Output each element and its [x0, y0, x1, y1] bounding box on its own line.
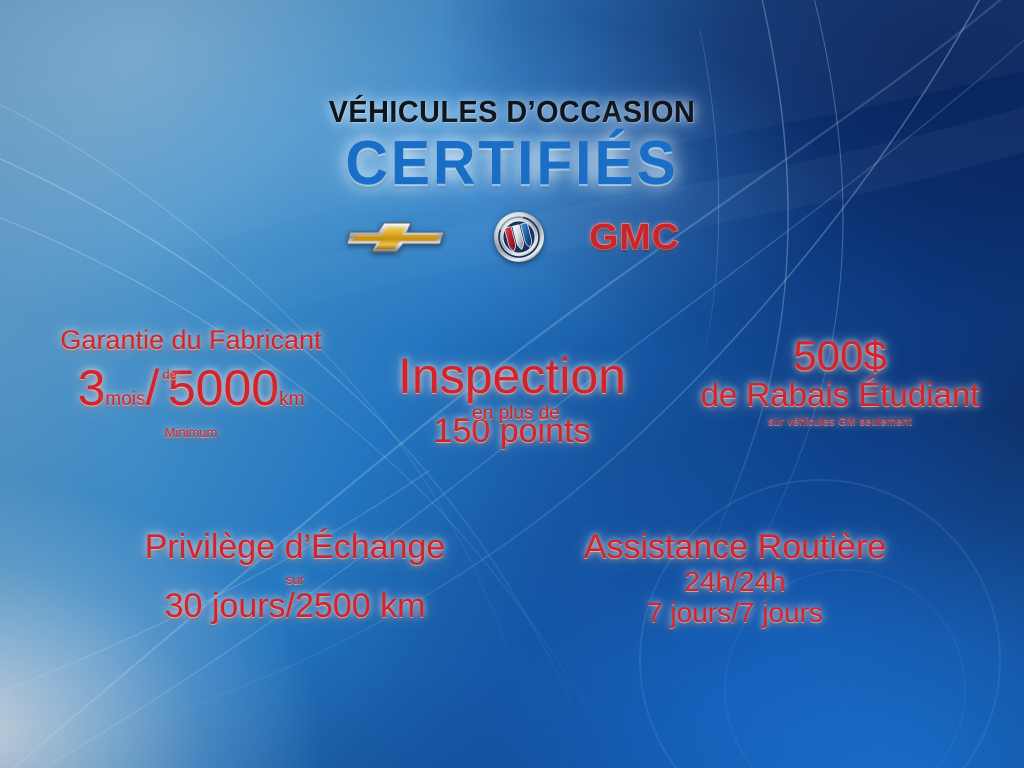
roadside-heading: Assistance Routière	[545, 530, 925, 565]
brand-logo-strip: GMC	[0, 207, 1024, 267]
roadside-hours: 24h/24h	[545, 567, 925, 596]
warranty-months: 3	[78, 362, 106, 414]
feature-roadside-assistance: Assistance Routière 24h/24h 7 jours/7 jo…	[545, 530, 925, 628]
banner-kicker: VÉHICULES D’OCCASION	[36, 96, 988, 127]
warranty-distance-unit: km	[279, 390, 304, 410]
rebate-fine-print: sur véhicules GM seulement	[662, 417, 1018, 428]
exchange-value: 30 jours/2500 km	[110, 589, 480, 624]
gmc-logo: GMC	[589, 219, 679, 255]
warranty-months-unit: mois	[105, 390, 145, 410]
warranty-terms: 3 mois / de 5000 km	[16, 362, 366, 414]
roadside-days: 7 jours/7 jours	[545, 598, 925, 627]
chevrolet-logo	[347, 217, 447, 257]
feature-warranty: Garantie du Fabricant 3 mois / de 5000 k…	[16, 326, 366, 440]
warranty-distance: 5000	[168, 362, 279, 414]
warranty-superscript-de: de	[162, 368, 176, 382]
feature-inspection: Inspection en plus de 150 points	[337, 350, 687, 449]
banner-title: CERTIFIÉS	[26, 133, 999, 195]
rebate-heading: de Rabais Étudiant	[662, 378, 1018, 412]
inspection-sub: en plus de	[341, 404, 691, 424]
warranty-note: Minimum	[16, 426, 366, 440]
feature-exchange-privilege: Privilège d’Échange sur 30 jours/2500 km	[110, 530, 480, 624]
warranty-separator: /	[146, 362, 160, 414]
rebate-amount: 500$	[662, 334, 1018, 378]
inspection-heading: Inspection	[337, 350, 687, 402]
promo-banner: VÉHICULES D’OCCASION CERTIFIÉS	[0, 0, 1024, 768]
feature-student-rebate: 500$ de Rabais Étudiant sur véhicules GM…	[662, 334, 1018, 428]
banner-header: VÉHICULES D’OCCASION CERTIFIÉS	[0, 96, 1024, 195]
warranty-heading: Garantie du Fabricant	[16, 326, 366, 354]
buick-logo	[493, 211, 545, 263]
exchange-sub: sur	[110, 573, 480, 587]
exchange-heading: Privilège d’Échange	[110, 530, 480, 565]
